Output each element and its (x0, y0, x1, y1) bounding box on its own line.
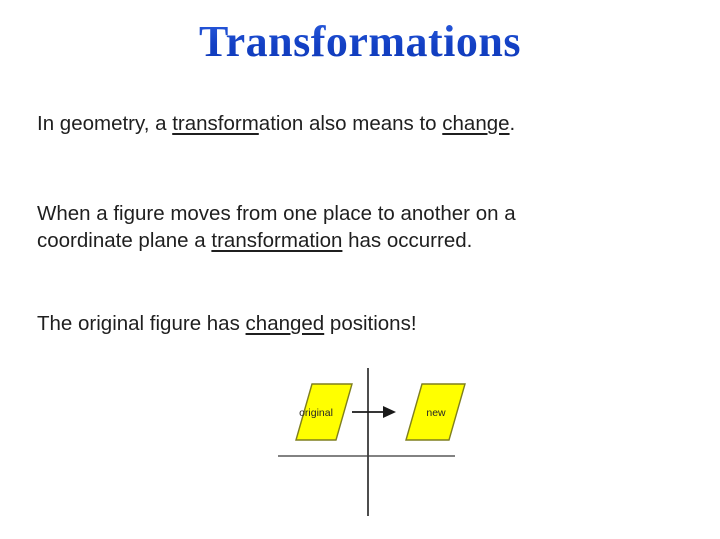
paragraph-1-emphasis-change: change (442, 112, 509, 135)
transformation-arrow-head (383, 406, 396, 418)
body-paragraph-1: In geometry, a transformation also means… (37, 110, 687, 137)
paragraph-3-emphasis-changed: changed (246, 312, 325, 335)
body-paragraph-3: The original figure has changed position… (37, 310, 687, 337)
page-title: Transformations (0, 16, 720, 68)
paragraph-1-text-part-3: . (510, 112, 516, 135)
paragraph-1-emphasis-transform: transform (172, 112, 259, 135)
paragraph-2-emphasis-transformation: transformation (211, 229, 342, 252)
body-paragraph-2: When a figure moves from one place to an… (37, 200, 612, 254)
paragraph-1-text-part-2: ation also means to (259, 112, 442, 135)
paragraph-3-text-part-1: The original figure has (37, 312, 246, 335)
paragraph-2-text-part-2: has occurred. (342, 229, 472, 252)
paragraph-3-text-part-2: positions! (324, 312, 416, 335)
paragraph-1-text-part-1: In geometry, a (37, 112, 172, 135)
original-shape-label: original (299, 407, 333, 419)
transformation-diagram: original new (270, 360, 500, 530)
new-shape-label: new (426, 407, 446, 419)
